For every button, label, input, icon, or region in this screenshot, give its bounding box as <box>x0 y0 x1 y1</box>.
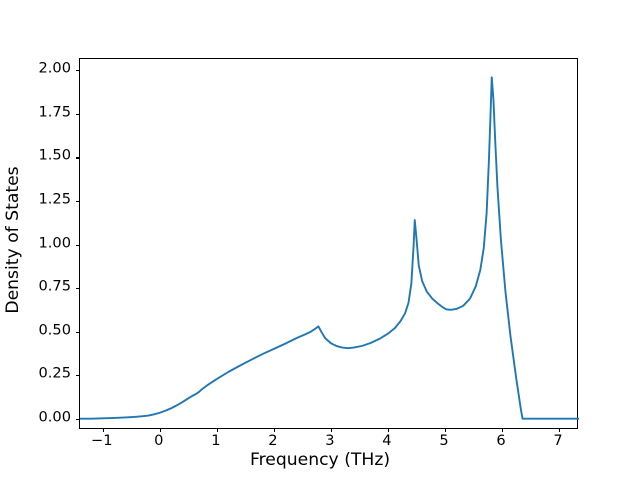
y-tick-label: 2.00 <box>39 62 72 77</box>
y-axis-label: Density of States <box>0 0 26 480</box>
y-tick-mark <box>76 288 80 289</box>
y-tick-mark <box>76 157 80 158</box>
x-tick-label: 1 <box>211 434 220 449</box>
plot-axes-frame <box>79 58 578 429</box>
x-tick-label: 4 <box>382 434 391 449</box>
x-tick-label: −1 <box>91 434 113 449</box>
y-tick-mark <box>76 70 80 71</box>
y-tick-label: 0.50 <box>39 323 72 338</box>
x-tick-label: 2 <box>268 434 277 449</box>
x-tick-label: 0 <box>154 434 163 449</box>
y-tick-mark <box>76 201 80 202</box>
y-tick-label: 0.00 <box>39 410 72 425</box>
dos-curve <box>80 77 579 418</box>
y-tick-label: 1.00 <box>39 236 72 251</box>
y-tick-mark <box>76 245 80 246</box>
y-tick-mark <box>76 332 80 333</box>
y-tick-mark <box>76 114 80 115</box>
x-tick-label: 5 <box>439 434 448 449</box>
y-tick-label: 1.75 <box>39 106 72 121</box>
y-tick-label: 1.50 <box>39 149 72 164</box>
dos-line-plot <box>80 59 579 430</box>
figure-canvas: −101234567 0.000.250.500.751.001.251.501… <box>0 0 640 480</box>
y-tick-mark <box>76 375 80 376</box>
x-tick-label: 6 <box>496 434 505 449</box>
x-tick-label: 3 <box>325 434 334 449</box>
y-tick-label: 0.75 <box>39 280 72 295</box>
x-axis-label: Frequency (THz) <box>0 452 640 469</box>
y-tick-label: 1.25 <box>39 193 72 208</box>
x-tick-label: 7 <box>553 434 562 449</box>
y-tick-mark <box>76 419 80 420</box>
y-tick-label: 0.25 <box>39 367 72 382</box>
